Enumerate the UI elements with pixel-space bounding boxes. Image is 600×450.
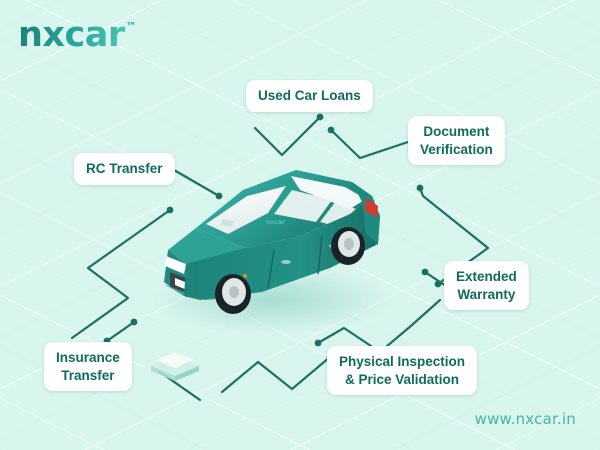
nxcar-logo[interactable]: nxcar ™ [18, 18, 137, 53]
logo-wordmark: nxcar [18, 18, 125, 53]
service-label-rc-transfer[interactable]: RC Transfer [74, 153, 175, 185]
service-label-physical-inspection[interactable]: Physical Inspection & Price Validation [327, 346, 477, 395]
service-label-extended-warranty[interactable]: Extended Warranty [444, 261, 529, 310]
car-front-wheel [215, 274, 251, 314]
isometric-card-stack [151, 352, 199, 381]
service-label-document-verification[interactable]: Document Verification [408, 116, 505, 165]
service-label-insurance-transfer[interactable]: Insurance Transfer [44, 342, 132, 391]
website-url[interactable]: www.nxcar.in [475, 410, 576, 428]
logo-trademark-symbol: ™ [126, 20, 137, 33]
nxcar-services-infographic: nxcar nxcar ™ Used Car Loans Document Ve… [0, 0, 600, 450]
car-windshield-decal: nxcar [266, 219, 285, 226]
service-label-used-car-loans[interactable]: Used Car Loans [246, 80, 373, 112]
car-rear-wheel [331, 227, 365, 265]
car-side-marker-light [243, 274, 247, 278]
car-door-handle-front [281, 260, 291, 264]
